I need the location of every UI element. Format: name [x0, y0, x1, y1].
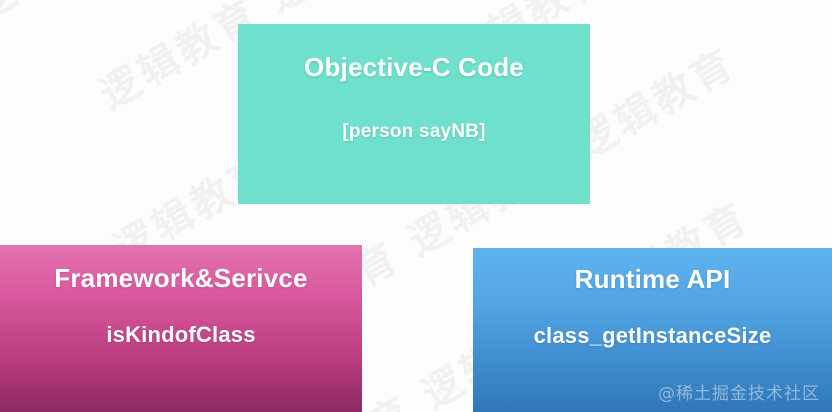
runtime-api-title: Runtime API — [575, 264, 731, 295]
framework-service-box: Framework&Serivce isKindofClass — [0, 245, 362, 412]
diagram-canvas: 逻辑教育 逻辑教育 逻辑教育 逻辑教育 逻辑教育 逻辑教育 逻辑教育 逻辑教育 … — [0, 0, 832, 412]
framework-service-subtitle: isKindofClass — [106, 322, 255, 348]
framework-service-title: Framework&Serivce — [54, 263, 307, 294]
objective-c-code-subtitle: [person sayNB] — [342, 121, 485, 143]
objective-c-code-box: Objective-C Code [person sayNB] — [238, 24, 590, 204]
objective-c-code-title: Objective-C Code — [304, 52, 524, 83]
runtime-api-subtitle: class_getInstanceSize — [534, 323, 772, 349]
corner-watermark: @稀土掘金技术社区 — [658, 379, 820, 404]
runtime-api-box: Runtime API class_getInstanceSize @稀土掘金技… — [473, 248, 832, 412]
